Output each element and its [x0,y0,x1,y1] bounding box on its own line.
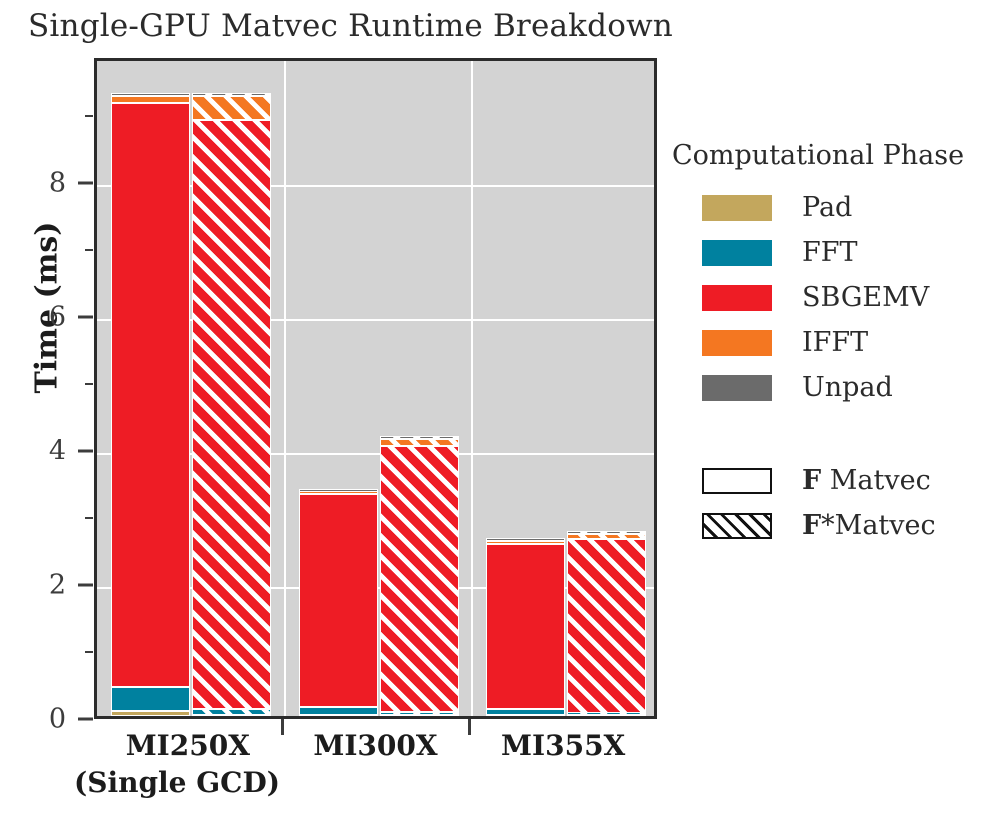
bar-segment-fft [299,707,378,714]
bar-mi355x-fstar-matvec [567,61,646,716]
bar-mi250x-f-matvec [111,61,190,716]
y-tick-label: 8 [20,168,66,199]
legend-swatch-pad [702,195,772,221]
bar-segment-unpad [486,538,565,541]
y-tick-minor [85,651,93,653]
gridline-vertical [471,61,473,716]
legend-label-sbgemv: SBGEMV [802,282,929,313]
bar-segment-unpad [567,531,646,534]
legend-item-sbgemv[interactable]: SBGEMV [672,275,992,320]
y-tick-minor [85,115,93,117]
legend-item-ifft[interactable]: IFFT [672,320,992,365]
y-tick-label: 2 [20,570,66,601]
legend-item-fft[interactable]: FFT [672,230,992,275]
y-tick-label: 4 [20,436,66,467]
legend-style-item-fstar-matvec[interactable]: F*Matvec [672,503,992,548]
plot-inner [97,61,654,716]
y-tick-minor [85,517,93,519]
bar-segment-fft [567,712,646,715]
bar-segment-sbgemv [299,494,378,707]
y-tick-mark [78,182,93,185]
y-tick-mark [78,584,93,587]
x-tick-label-mi300x: MI300X [282,729,470,762]
bar-segment-unpad [380,436,459,439]
bar-mi300x-fstar-matvec [380,61,459,716]
bar-segment-unpad [111,93,190,96]
legend-swatch-hatched [702,513,772,539]
y-tick-label: 0 [20,704,66,735]
bar-segment-ifft [299,491,378,494]
legend-swatch-fft [702,240,772,266]
legend-phase-list: PadFFTSBGEMVIFFTUnpad [672,185,992,410]
bar-segment-sbgemv [111,103,190,687]
legend-item-pad[interactable]: Pad [672,185,992,230]
bar-segment-ifft [192,96,271,119]
legend-style-label: F Matvec [802,465,931,496]
legend-item-unpad[interactable]: Unpad [672,365,992,410]
bar-segment-fft [380,712,459,715]
legend: Computational Phase PadFFTSBGEMVIFFTUnpa… [672,140,992,548]
bar-segment-ifft [567,534,646,539]
y-tick-minor [85,383,93,385]
legend-swatch-unpad [702,375,772,401]
bar-segment-fft [111,687,190,711]
bar-mi355x-f-matvec [486,61,565,716]
y-tick-mark [78,450,93,453]
y-tick-mark [78,718,93,721]
y-tick-minor [85,249,93,251]
bar-segment-ifft [380,439,459,446]
bar-segment-fft [192,709,271,715]
legend-swatch-solid [702,468,772,494]
legend-label-fft: FFT [802,237,857,268]
page-title: Single-GPU Matvec Runtime Breakdown [28,8,673,44]
bar-segment-ifft [111,96,190,103]
bar-segment-sbgemv [380,446,459,712]
bar-mi250x-fstar-matvec [192,61,271,716]
plot-area [94,58,657,719]
legend-title: Computational Phase [672,140,992,171]
legend-swatch-ifft [702,330,772,356]
bar-segment-unpad [299,489,378,492]
bar-segment-sbgemv [567,539,646,713]
legend-style-item-f-matvec[interactable]: F Matvec [672,458,992,503]
gridline-vertical [284,61,286,716]
bar-mi300x-f-matvec [299,61,378,716]
bar-segment-pad [111,711,190,716]
y-tick-label: 6 [20,302,66,333]
y-tick-mark [78,316,93,319]
legend-label-pad: Pad [802,192,852,223]
bar-segment-unpad [192,93,271,96]
x-tick-label-mi250x: MI250X [94,729,282,762]
legend-swatch-sbgemv [702,285,772,311]
bar-segment-fft [486,709,565,715]
legend-label-unpad: Unpad [802,372,893,403]
legend-label-ifft: IFFT [802,327,868,358]
bar-segment-sbgemv [192,120,271,709]
bar-segment-sbgemv [486,544,565,709]
legend-style-label: F*Matvec [802,510,936,541]
x-axis-sub-label: (Single GCD) [74,766,264,799]
bar-segment-ifft [486,541,565,544]
x-tick-label-mi355x: MI355X [469,729,657,762]
legend-style-list: F MatvecF*Matvec [672,458,992,548]
